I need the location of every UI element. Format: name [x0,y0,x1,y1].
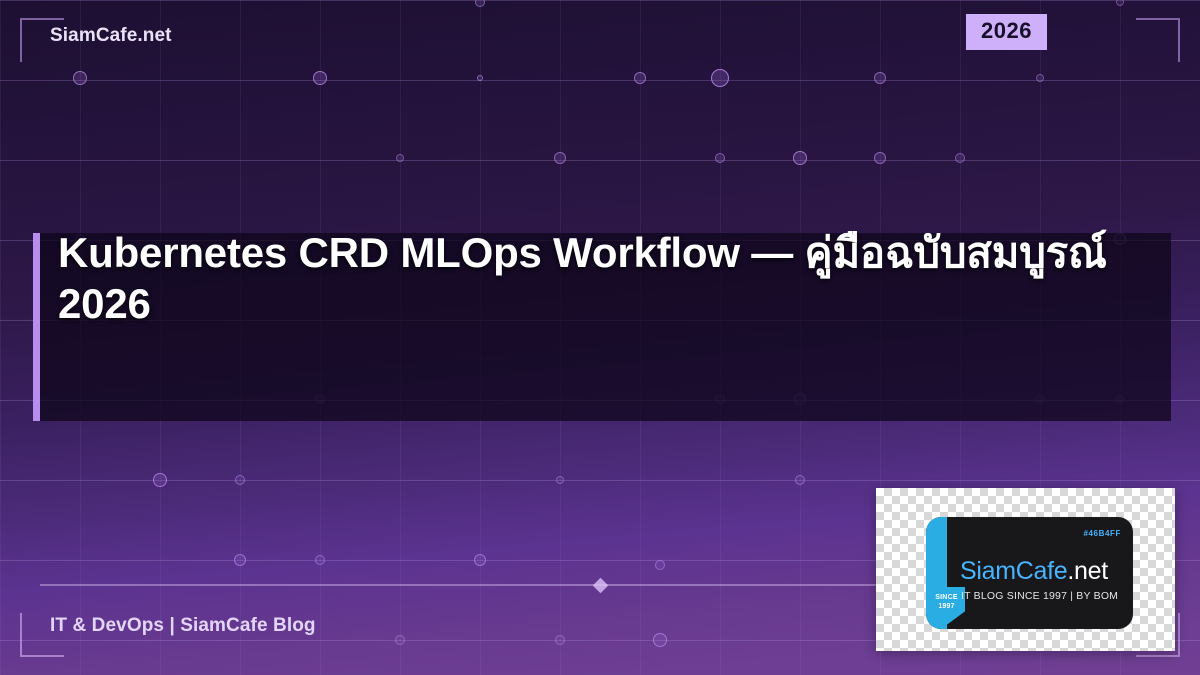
decorative-dot [475,0,485,7]
hero-banner: SiamCafe.net 2026 Kubernetes CRD MLOps W… [0,0,1200,675]
logo-inner-panel: SINCE 1997 #46B4FF SiamCafe.net IT BLOG … [926,517,1133,629]
title-accent-bar [33,233,40,421]
decorative-dot [474,554,486,566]
title-panel: Kubernetes CRD MLOps Workflow — คู่มือฉบ… [33,233,1171,421]
decorative-dot [634,72,646,84]
decorative-dot [153,473,167,487]
decorative-dot [1036,74,1044,82]
logo-wordmark-tld: .net [1067,557,1108,585]
decorative-dot [234,554,246,566]
footer-caption: IT & DevOps | SiamCafe Blog [50,615,316,637]
decorative-dot [955,153,965,163]
site-brand: SiamCafe.net [50,25,172,47]
decorative-dot [313,71,327,85]
decorative-dot [874,152,886,164]
decorative-dot [396,154,404,162]
decorative-dot [793,151,807,165]
decorative-dot [395,635,405,645]
divider-diamond-icon [592,577,608,593]
decorative-dot [73,71,87,85]
decorative-dot [655,560,665,570]
logo-tagline: IT BLOG SINCE 1997 | BY BOM [961,590,1118,602]
decorative-dot [477,75,483,81]
decorative-dot [315,555,325,565]
since-badge-line1: SINCE [935,594,957,601]
corner-bracket-top-right-icon [1136,18,1180,62]
logo-hex-code: #46B4FF [1083,529,1121,538]
decorative-dot [874,72,886,84]
decorative-dot [1116,0,1124,6]
since-badge-line2: 1997 [928,602,965,611]
logo-wordmark-primary: SiamCafe [960,557,1067,585]
decorative-dot [653,633,667,647]
decorative-dot [555,635,565,645]
page-title: Kubernetes CRD MLOps Workflow — คู่มือฉบ… [58,227,1157,329]
year-badge: 2026 [966,14,1047,50]
decorative-dot [795,475,805,485]
decorative-dot [554,152,566,164]
logo-card: SINCE 1997 #46B4FF SiamCafe.net IT BLOG … [876,488,1175,651]
decorative-dot [715,153,725,163]
decorative-dot [711,69,729,87]
decorative-dot [556,476,564,484]
decorative-dot [235,475,245,485]
logo-wordmark: SiamCafe.net [960,557,1108,586]
